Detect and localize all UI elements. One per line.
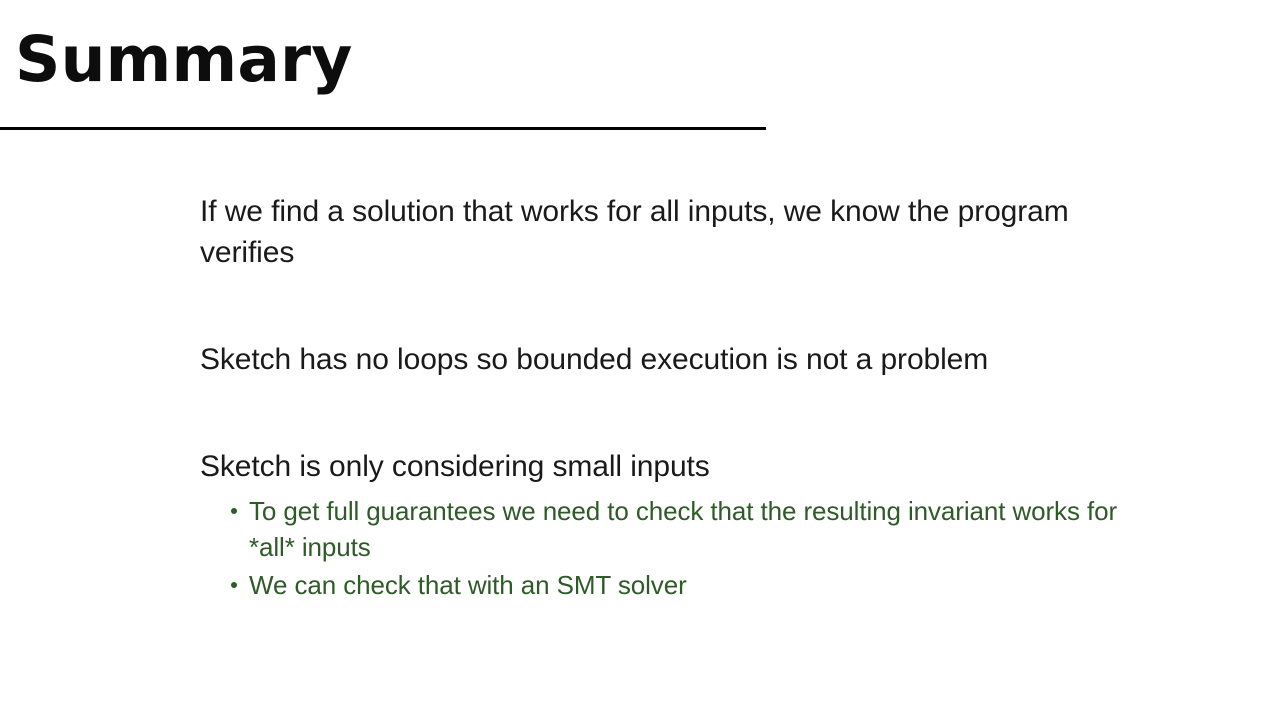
list-item-label: We can check that with an SMT solver bbox=[249, 570, 687, 600]
paragraph-spacer-2 bbox=[200, 380, 1130, 446]
slide-body: If we find a solution that works for all… bbox=[200, 191, 1130, 605]
paragraph-spacer-1 bbox=[200, 273, 1130, 339]
sub-bullet-list: To get full guarantees we need to check … bbox=[200, 493, 1130, 603]
slide-canvas: Summary If we find a solution that works… bbox=[0, 0, 1280, 720]
list-item: To get full guarantees we need to check … bbox=[200, 493, 1164, 565]
body-paragraph-1: If we find a solution that works for all… bbox=[200, 191, 1100, 273]
list-item: We can check that with an SMT solver bbox=[200, 567, 1164, 603]
page-title: Summary bbox=[15, 26, 353, 94]
bullet-dot-icon bbox=[231, 508, 237, 514]
body-paragraph-2: Sketch has no loops so bounded execution… bbox=[200, 339, 1100, 380]
list-item-label: To get full guarantees we need to check … bbox=[249, 496, 1117, 562]
title-divider bbox=[0, 127, 766, 130]
bullet-dot-icon bbox=[231, 582, 237, 588]
body-paragraph-3: Sketch is only considering small inputs bbox=[200, 446, 1100, 487]
